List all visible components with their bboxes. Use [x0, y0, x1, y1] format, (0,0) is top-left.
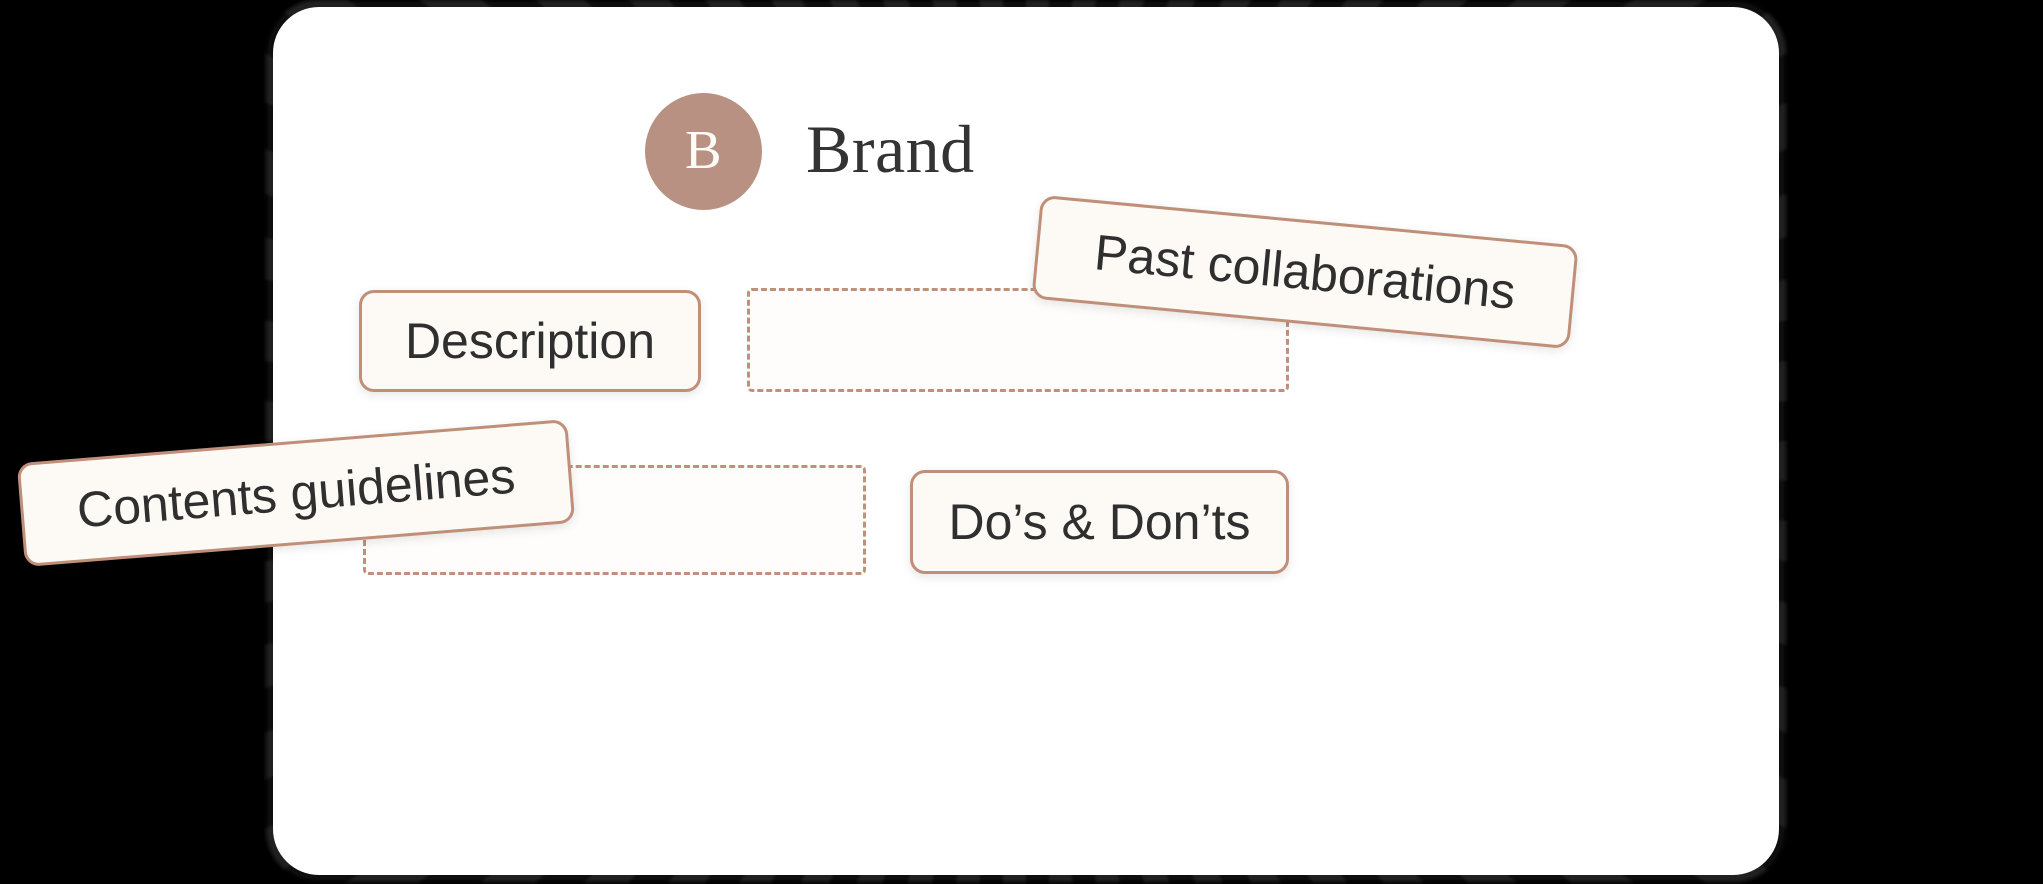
page-title: Brand: [806, 115, 975, 189]
avatar-initial: B: [685, 122, 722, 181]
brand-card: B Brand Description Do’s & Don’ts Past c…: [268, 2, 1784, 880]
avatar: B: [645, 93, 762, 210]
pill-dos-and-donts[interactable]: Do’s & Don’ts: [910, 470, 1289, 574]
brand-header: B Brand: [645, 93, 975, 210]
screenshot-canvas: B Brand Description Do’s & Don’ts Past c…: [0, 0, 2043, 884]
pill-description[interactable]: Description: [359, 290, 701, 392]
card-surface: B Brand Description Do’s & Don’ts Past c…: [273, 7, 1779, 875]
